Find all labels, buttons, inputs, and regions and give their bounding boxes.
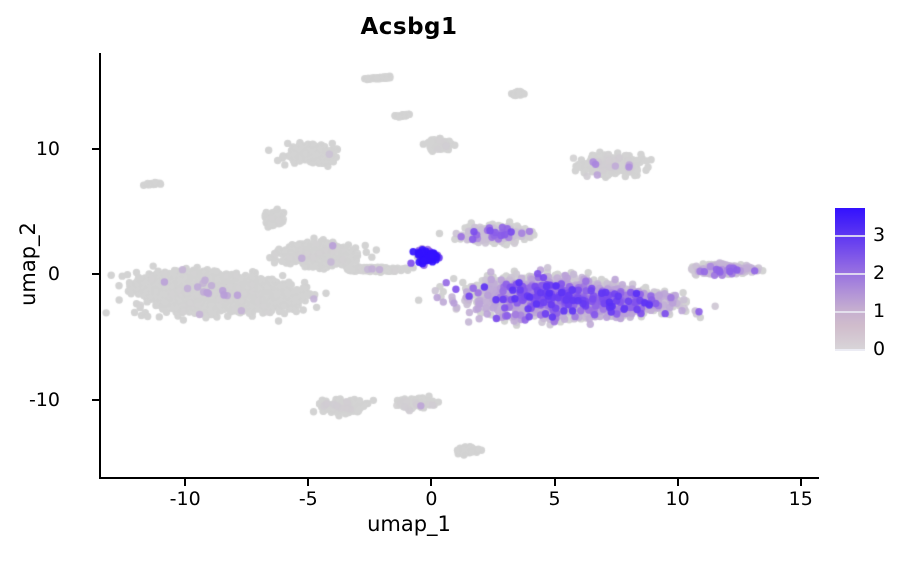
- umap-feature-plot-figure: Acsbg1 -10-5051015 -10010 umap_1 umap_2 …: [0, 0, 911, 562]
- colorbar-tick-2: [835, 273, 865, 275]
- x-tick-10: [677, 479, 679, 486]
- y-tick-label--10: -10: [29, 389, 60, 411]
- x-tick-label--5: -5: [299, 488, 318, 510]
- scatter-points-canvas: [99, 53, 818, 478]
- page-title: Acsbg1: [0, 14, 818, 40]
- y-axis-ticks: -10010: [0, 0, 86, 562]
- colorbar-gradient: [835, 208, 865, 349]
- colorbar-label-3: 3: [873, 224, 885, 246]
- x-tick-label-15: 15: [789, 488, 813, 510]
- y-tick-label-0: 0: [48, 263, 60, 285]
- colorbar-label-2: 2: [873, 262, 885, 284]
- colorbar-tick-1: [835, 311, 865, 313]
- y-tick-10: [92, 148, 99, 150]
- x-tick-0: [430, 479, 432, 486]
- colorbar-label-0: 0: [873, 338, 885, 360]
- x-tick-15: [800, 479, 802, 486]
- x-tick--10: [184, 479, 186, 486]
- x-tick-label-0: 0: [425, 488, 437, 510]
- scatter-plot-area: [99, 53, 818, 478]
- y-tick--10: [92, 399, 99, 401]
- colorbar-tick-0: [835, 349, 865, 351]
- y-tick-0: [92, 273, 99, 275]
- x-tick--5: [307, 479, 309, 486]
- x-tick-label--10: -10: [170, 488, 201, 510]
- x-tick-5: [554, 479, 556, 486]
- colorbar-label-1: 1: [873, 300, 885, 322]
- x-tick-label-5: 5: [548, 488, 560, 510]
- x-tick-label-10: 10: [666, 488, 690, 510]
- y-axis-label: umap_2: [16, 144, 40, 384]
- x-axis-label: umap_1: [0, 512, 818, 536]
- colorbar-tick-3: [835, 235, 865, 237]
